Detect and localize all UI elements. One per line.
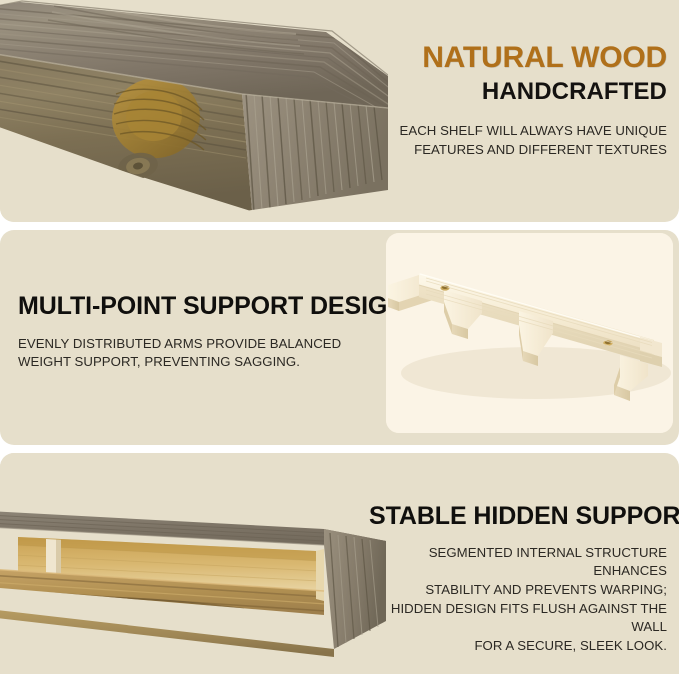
body-line: STABILITY AND PREVENTS WARPING; xyxy=(369,581,667,600)
body-line: WEIGHT SUPPORT, PREVENTING SAGGING. xyxy=(18,353,370,372)
product-feature-infographic: NATURAL WOOD HANDCRAFTED EACH SHELF WILL… xyxy=(0,0,679,674)
hidden-support-shelf-photo xyxy=(0,453,386,674)
panel-stable-hidden-support: STABLE HIDDEN SUPPORT SEGMENTED INTERNAL… xyxy=(0,453,679,674)
stable-hidden-text-block: STABLE HIDDEN SUPPORT SEGMENTED INTERNAL… xyxy=(369,503,667,656)
bracket-photo-card xyxy=(386,233,673,433)
body-line: HIDDEN DESIGN FITS FLUSH AGAINST THE WAL… xyxy=(369,600,667,637)
heading-multi-point-support: MULTI-POINT SUPPORT DESIGN xyxy=(18,293,370,321)
stable-hidden-body: SEGMENTED INTERNAL STRUCTURE ENHANCES ST… xyxy=(369,544,667,656)
body-line: FEATURES AND DIFFERENT TEXTURES xyxy=(367,141,667,160)
natural-wood-text-block: NATURAL WOOD HANDCRAFTED EACH SHELF WILL… xyxy=(367,42,667,160)
body-line: FOR A SECURE, SLEEK LOOK. xyxy=(369,637,667,656)
panel-multi-point-support: MULTI-POINT SUPPORT DESIGN EVENLY DISTRI… xyxy=(0,230,679,445)
wood-board-photo xyxy=(0,0,388,222)
natural-wood-body: EACH SHELF WILL ALWAYS HAVE UNIQUE FEATU… xyxy=(367,122,667,159)
multi-point-body: EVENLY DISTRIBUTED ARMS PROVIDE BALANCED… xyxy=(18,335,370,372)
subheading-handcrafted: HANDCRAFTED xyxy=(367,79,667,105)
multi-point-text-block: MULTI-POINT SUPPORT DESIGN EVENLY DISTRI… xyxy=(18,293,370,372)
heading-natural-wood: NATURAL WOOD xyxy=(367,42,667,73)
body-line: EACH SHELF WILL ALWAYS HAVE UNIQUE xyxy=(367,122,667,141)
panel-natural-wood: NATURAL WOOD HANDCRAFTED EACH SHELF WILL… xyxy=(0,0,679,222)
body-line: EVENLY DISTRIBUTED ARMS PROVIDE BALANCED xyxy=(18,335,370,354)
heading-stable-hidden-support: STABLE HIDDEN SUPPORT xyxy=(369,503,667,531)
body-line: SEGMENTED INTERNAL STRUCTURE ENHANCES xyxy=(369,544,667,581)
